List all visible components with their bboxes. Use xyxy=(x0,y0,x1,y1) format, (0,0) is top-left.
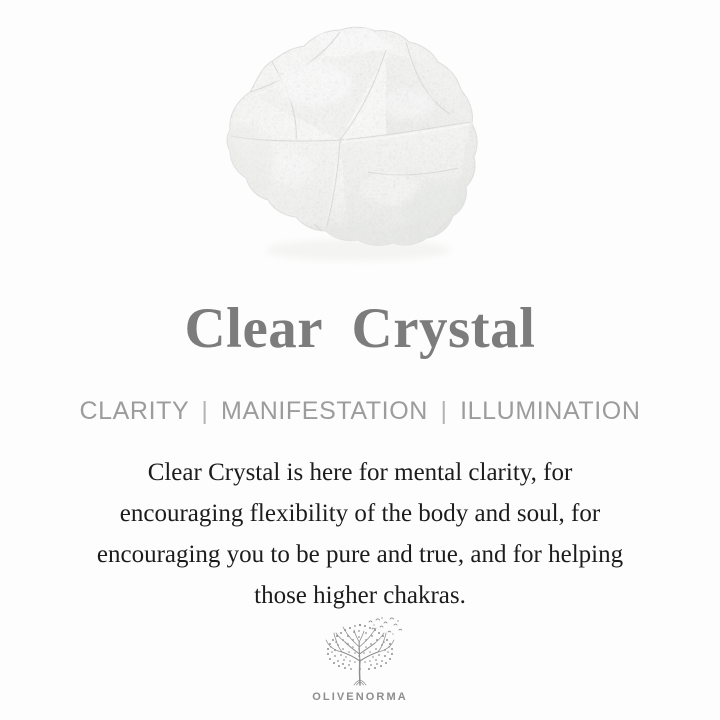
description-line: those higher chakras. xyxy=(36,575,684,616)
product-info-card: Clear Crystal CLARITY | MANIFESTATION | … xyxy=(0,0,720,720)
bird-specks-icon xyxy=(373,617,398,634)
page-title: Clear Crystal xyxy=(0,296,720,362)
brand-logo: OLIVENORMA xyxy=(0,616,720,703)
crystal-image-wrapper xyxy=(218,18,488,268)
description-line: encouraging flexibility of the body and … xyxy=(36,493,684,534)
brand-name: OLIVENORMA xyxy=(0,691,720,703)
description-line: encouraging you to be pure and true, and… xyxy=(36,534,684,575)
crystal-body xyxy=(218,18,488,268)
keyword-illumination: ILLUMINATION xyxy=(460,397,640,425)
keyword-manifestation: MANIFESTATION xyxy=(221,397,428,425)
product-image-area xyxy=(0,18,720,268)
tree-of-life-icon xyxy=(314,616,406,690)
keyword-separator: | xyxy=(196,397,213,425)
keyword-clarity: CLARITY xyxy=(80,397,189,425)
keyword-separator: | xyxy=(435,397,452,425)
description-line: Clear Crystal is here for mental clarity… xyxy=(36,452,684,493)
crystal-shadow xyxy=(266,239,450,261)
raw-clear-quartz-crystal-icon xyxy=(218,18,488,268)
keyword-strip: CLARITY | MANIFESTATION | ILLUMINATION xyxy=(0,396,720,426)
product-description: Clear Crystal is here for mental clarity… xyxy=(36,452,684,616)
